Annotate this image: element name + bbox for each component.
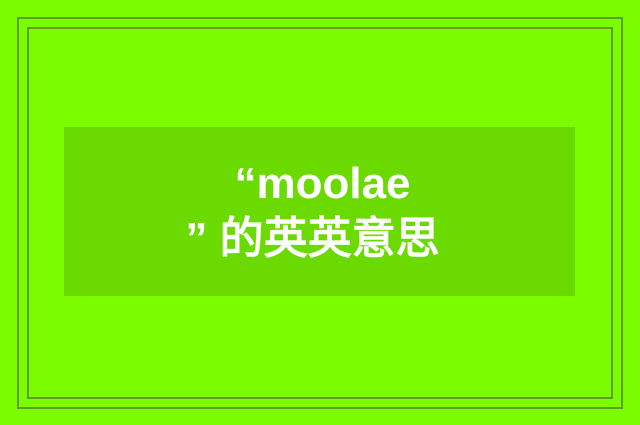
image-canvas: “moolae ” 的英英意思 [0, 0, 640, 425]
title-line-2: ” 的英英意思 [64, 216, 575, 262]
caption-overlay-panel: “moolae ” 的英英意思 [64, 127, 575, 296]
title-line-1: “moolae [64, 161, 575, 207]
title-block: “moolae ” 的英英意思 [64, 161, 575, 261]
